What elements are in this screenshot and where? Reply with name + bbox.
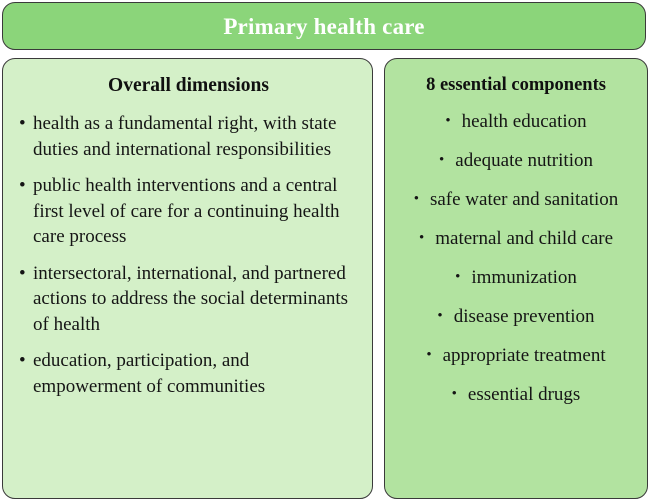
list-item-label: adequate nutrition — [455, 150, 593, 171]
list-item-label: safe water and sanitation — [430, 189, 618, 210]
primary-health-care-diagram: Primary health care Overall dimensions •… — [0, 0, 650, 501]
essential-components-panel: 8 essential components •health education… — [384, 58, 648, 499]
bullet-icon: • — [426, 347, 431, 363]
list-item: •immunization — [395, 264, 637, 291]
bullet-icon: • — [414, 191, 419, 207]
list-item-label: health education — [462, 111, 587, 132]
list-item-label: immunization — [471, 267, 577, 288]
bullet-icon: • — [419, 230, 424, 246]
list-item: •appropriate treatment — [395, 342, 637, 369]
list-item: • public health interventions and a cent… — [19, 173, 358, 250]
essential-components-list: •health education •adequate nutrition •s… — [395, 108, 637, 408]
list-item: •essential drugs — [395, 381, 637, 408]
bullet-icon: • — [19, 348, 26, 374]
bullet-icon: • — [455, 269, 460, 285]
bullet-icon: • — [19, 111, 26, 137]
overall-dimensions-heading: Overall dimensions — [19, 74, 358, 97]
list-item-label: public health interventions and a centra… — [33, 175, 340, 247]
list-item-label: appropriate treatment — [443, 345, 606, 366]
bullet-icon: • — [439, 152, 444, 168]
overall-dimensions-list: • health as a fundamental right, with st… — [19, 111, 358, 399]
list-item: •safe water and sanitation — [395, 186, 637, 213]
bullet-icon: • — [452, 386, 457, 402]
list-item-label: maternal and child care — [435, 228, 613, 249]
list-item: • intersectoral, international, and part… — [19, 261, 358, 338]
list-item-label: intersectoral, international, and partne… — [33, 263, 348, 335]
list-item-label: essential drugs — [468, 384, 580, 405]
list-item: •adequate nutrition — [395, 147, 637, 174]
page-title: Primary health care — [223, 15, 424, 38]
bullet-icon: • — [19, 261, 26, 287]
list-item-label: health as a fundamental right, with stat… — [33, 113, 336, 160]
diagram-header-banner: Primary health care — [2, 2, 646, 50]
list-item-label: education, participation, and empowermen… — [33, 350, 265, 397]
bullet-icon: • — [437, 308, 442, 324]
overall-dimensions-panel: Overall dimensions • health as a fundame… — [2, 58, 373, 499]
list-item-label: disease prevention — [454, 306, 595, 327]
bullet-icon: • — [445, 113, 450, 129]
essential-components-heading: 8 essential components — [395, 74, 637, 96]
list-item: • health as a fundamental right, with st… — [19, 111, 358, 162]
bullet-icon: • — [19, 173, 26, 199]
list-item: •health education — [395, 108, 637, 135]
list-item: •disease prevention — [395, 303, 637, 330]
list-item: •maternal and child care — [395, 225, 637, 252]
list-item: • education, participation, and empowerm… — [19, 348, 358, 399]
